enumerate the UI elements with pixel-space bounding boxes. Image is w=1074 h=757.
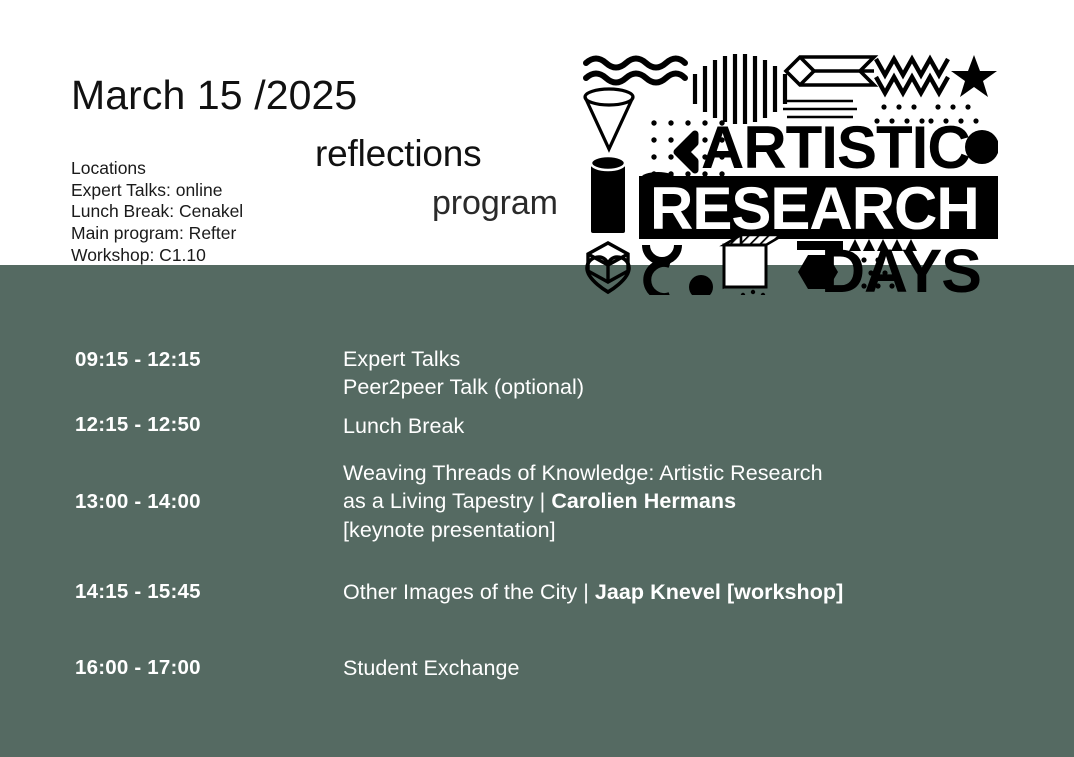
chevron-left-icon — [677, 134, 695, 170]
schedule-time: 13:00 - 14:00 — [0, 490, 343, 514]
schedule-text: [keynote presentation] — [343, 518, 556, 542]
schedule-description: Lunch Break — [343, 412, 464, 440]
crescent-icon — [647, 263, 670, 295]
schedule-text: Other Images of the City | — [343, 580, 595, 604]
program-subheading: program — [432, 184, 558, 223]
schedule-description-line: Other Images of the City | Jaap Knevel [… — [343, 578, 843, 606]
schedule-time: 09:15 - 12:15 — [0, 348, 343, 372]
location-line: Lunch Break: Cenakel — [71, 201, 243, 223]
schedule-time: 16:00 - 17:00 — [0, 656, 343, 680]
schedule-description-line: [keynote presentation] — [343, 516, 823, 544]
table-row: 16:00 - 17:00 Student Exchange — [0, 654, 1074, 682]
table-row: 13:00 - 14:00 Weaving Threads of Knowled… — [0, 459, 1074, 544]
location-line: Main program: Refter — [71, 223, 243, 245]
schedule-description-line: as a Living Tapestry | Carolien Hermans — [343, 487, 823, 515]
cylinder-icon — [591, 156, 625, 233]
schedule-speaker: Jaap Knevel [workshop] — [595, 580, 843, 604]
schedule-text: Expert Talks — [343, 347, 460, 371]
reflections-heading: reflections — [315, 133, 481, 175]
schedule-time: 14:15 - 15:45 — [0, 580, 343, 604]
zigzag-icon — [876, 59, 948, 93]
hatched-cube-icon — [724, 235, 783, 287]
star-icon — [951, 55, 997, 97]
arc-down-icon — [646, 245, 678, 261]
schedule-description-line: Weaving Threads of Knowledge: Artistic R… — [343, 459, 823, 487]
schedule-description-line: Expert Talks — [343, 345, 584, 373]
poster-canvas: March 15 /2025 Locations Expert Talks: o… — [0, 0, 1074, 757]
double-wave-icon — [586, 59, 685, 83]
schedule-description: Weaving Threads of Knowledge: Artistic R… — [343, 459, 823, 544]
schedule-description-line: Student Exchange — [343, 654, 520, 682]
schedule-text: as a Living Tapestry | — [343, 489, 551, 513]
artistic-research-days-logo: ARTISTIC RESEARCH — [578, 49, 998, 295]
schedule-description-line: Peer2peer Talk (optional) — [343, 373, 584, 401]
schedule-description: Expert TalksPeer2peer Talk (optional) — [343, 345, 584, 402]
schedule-text: Weaving Threads of Knowledge: Artistic R… — [343, 461, 823, 485]
schedule-description: Student Exchange — [343, 654, 520, 682]
small-filled-circle-icon — [689, 275, 713, 295]
schedule-description: Other Images of the City | Jaap Knevel [… — [343, 578, 843, 606]
logo-line-2: RESEARCH — [650, 175, 979, 242]
schedule-text: Student Exchange — [343, 656, 520, 680]
logo-line-1: ARTISTIC — [701, 114, 970, 181]
locations-heading: Locations — [71, 158, 243, 180]
cone-outline-icon — [585, 89, 633, 149]
page-title: March 15 /2025 — [71, 72, 357, 119]
table-row: 12:15 - 12:50 Lunch Break — [0, 412, 1074, 440]
tiny-dots-icon — [741, 290, 765, 295]
schedule-description-line: Lunch Break — [343, 412, 464, 440]
table-row: 09:15 - 12:15 Expert TalksPeer2peer Talk… — [0, 345, 1074, 402]
schedule-text: Lunch Break — [343, 414, 464, 438]
table-row: 14:15 - 15:45 Other Images of the City |… — [0, 578, 1074, 606]
logo-line-3: DAYS — [821, 237, 981, 295]
schedule-time: 12:15 - 12:50 — [0, 413, 343, 437]
hexagon-prism-icon — [786, 57, 874, 85]
schedule-text: Peer2peer Talk (optional) — [343, 375, 584, 399]
locations-block: Locations Expert Talks: online Lunch Bre… — [71, 158, 243, 267]
location-line: Expert Talks: online — [71, 180, 243, 202]
filled-circle-icon — [965, 130, 998, 164]
location-line: Workshop: C1.10 — [71, 245, 243, 267]
schedule-speaker: Carolien Hermans — [551, 489, 736, 513]
